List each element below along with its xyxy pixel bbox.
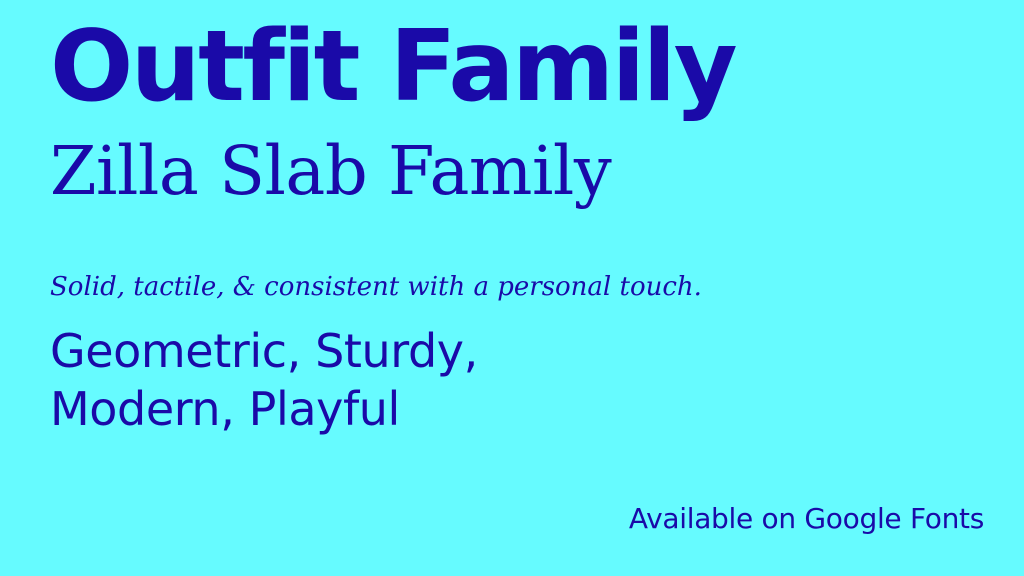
availability-note: Available on Google Fonts bbox=[629, 505, 984, 533]
secondary-heading-zilla-slab-family: Zilla Slab Family bbox=[50, 138, 611, 205]
tagline-text: Solid, tactile, & consistent with a pers… bbox=[50, 274, 702, 300]
descriptor-line-2: Modern, Playful bbox=[50, 380, 478, 438]
descriptor-list: Geometric, Sturdy, Modern, Playful bbox=[50, 322, 478, 438]
descriptor-line-1: Geometric, Sturdy, bbox=[50, 322, 478, 380]
type-specimen-slide: Outfit Family Zilla Slab Family Solid, t… bbox=[0, 0, 1024, 576]
primary-heading-outfit-family: Outfit Family bbox=[50, 18, 735, 116]
